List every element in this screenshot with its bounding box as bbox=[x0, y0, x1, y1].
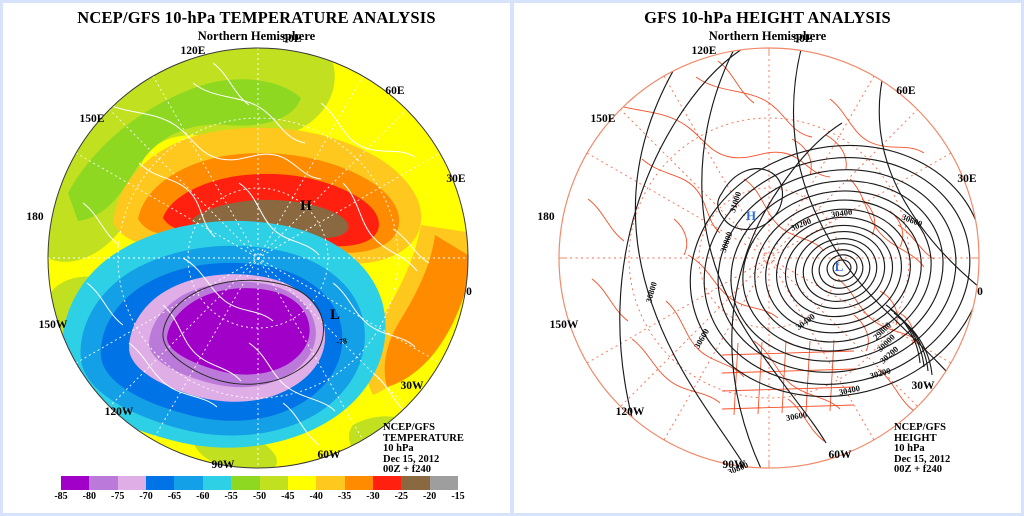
colorbar-swatch-5 bbox=[203, 476, 231, 490]
colorbar-tick--50: -50 bbox=[253, 491, 266, 502]
lon-label-60W: 60W bbox=[829, 449, 852, 461]
colorbar-swatch-2 bbox=[118, 476, 146, 490]
colorbar-swatch-13 bbox=[430, 476, 458, 490]
lon-label-0: 0 bbox=[466, 286, 472, 298]
colorbar-swatch-12 bbox=[401, 476, 429, 490]
lon-label-120W: 120W bbox=[105, 406, 134, 418]
colorbar-swatch-7 bbox=[260, 476, 288, 490]
lon-label-150E: 150E bbox=[591, 113, 616, 125]
lon-label-180: 180 bbox=[537, 211, 554, 223]
svg-text:30600: 30600 bbox=[900, 212, 923, 229]
temperature-colorbar-ticks: -85-80-75-70-65-60-55-50-45-40-35-30-25-… bbox=[3, 491, 515, 505]
svg-text:30800: 30800 bbox=[718, 230, 735, 253]
colorbar-tick--75: -75 bbox=[111, 491, 124, 502]
colorbar-tick--60: -60 bbox=[196, 491, 209, 502]
temperature-contour-label: -78 bbox=[336, 336, 348, 346]
colorbar-tick--35: -35 bbox=[338, 491, 351, 502]
lon-label-0: 0 bbox=[977, 286, 983, 298]
svg-text:30200: 30200 bbox=[869, 365, 892, 380]
height-low-marker: L bbox=[835, 259, 844, 274]
lon-label-90E: 90E bbox=[282, 33, 301, 45]
lon-label-60E: 60E bbox=[385, 85, 404, 97]
lon-label-90E: 90E bbox=[793, 33, 812, 45]
height-panel-subtitle: Northern Hemisphere bbox=[514, 29, 1021, 44]
colorbar-tick--55: -55 bbox=[224, 491, 237, 502]
lon-label-120W: 120W bbox=[616, 406, 645, 418]
svg-text:30400: 30400 bbox=[838, 383, 861, 397]
colorbar-swatch-8 bbox=[288, 476, 316, 490]
colorbar-swatch-10 bbox=[345, 476, 373, 490]
lon-label-90W: 90W bbox=[212, 459, 235, 471]
colorbar-tick--40: -40 bbox=[310, 491, 323, 502]
lon-label-90W: 90W bbox=[723, 459, 746, 471]
svg-text:30600: 30600 bbox=[785, 409, 808, 423]
lon-label-120E: 120E bbox=[181, 45, 206, 57]
colorbar-tick--20: -20 bbox=[423, 491, 436, 502]
colorbar-swatch-4 bbox=[174, 476, 202, 490]
lon-label-30W: 30W bbox=[401, 380, 424, 392]
lon-label-150E: 150E bbox=[80, 113, 105, 125]
colorbar-swatch-11 bbox=[373, 476, 401, 490]
colorbar-tick--25: -25 bbox=[395, 491, 408, 502]
lon-label-30E: 30E bbox=[446, 173, 465, 185]
temperature-panel-title: NCEP/GFS 10-hPa TEMPERATURE ANALYSIS bbox=[3, 8, 510, 28]
colorbar-tick--45: -45 bbox=[281, 491, 294, 502]
lon-label-30W: 30W bbox=[912, 380, 935, 392]
screenshot-root: NCEP/GFS 10-hPa TEMPERATURE ANALYSIS Nor… bbox=[0, 0, 1024, 516]
colorbar-swatch-3 bbox=[146, 476, 174, 490]
height-contour-labels: 31000 30800 30200 30400 30600 30800 3060… bbox=[643, 190, 923, 473]
colorbar-swatch-1 bbox=[89, 476, 117, 490]
colorbar-tick--80: -80 bbox=[83, 491, 96, 502]
lon-label-60W: 60W bbox=[318, 449, 341, 461]
temperature-panel: NCEP/GFS 10-hPa TEMPERATURE ANALYSIS Nor… bbox=[0, 0, 512, 516]
lon-label-180: 180 bbox=[26, 211, 43, 223]
temperature-annotation: NCEP/GFS TEMPERATURE 10 hPa Dec 15, 2012… bbox=[383, 423, 464, 476]
colorbar-tick--15: -15 bbox=[451, 491, 464, 502]
lon-label-150W: 150W bbox=[39, 319, 68, 331]
colorbar-tick--65: -65 bbox=[168, 491, 181, 502]
colorbar-tick--70: -70 bbox=[139, 491, 152, 502]
colorbar-swatch-0 bbox=[61, 476, 89, 490]
colorbar-swatch-6 bbox=[231, 476, 259, 490]
lon-label-150W: 150W bbox=[550, 319, 579, 331]
lon-label-30E: 30E bbox=[957, 173, 976, 185]
height-annotation: NCEP/GFS HEIGHT 10 hPa Dec 15, 2012 00Z … bbox=[894, 423, 950, 476]
temperature-low-marker: L bbox=[330, 307, 340, 323]
colorbar-tick--30: -30 bbox=[366, 491, 379, 502]
height-panel: GFS 10-hPa HEIGHT ANALYSIS Northern Hemi… bbox=[512, 0, 1024, 516]
svg-text:30200: 30200 bbox=[789, 216, 812, 233]
temperature-panel-subtitle: Northern Hemisphere bbox=[3, 29, 510, 44]
height-high-marker: H bbox=[746, 208, 756, 223]
colorbar-swatch-9 bbox=[316, 476, 344, 490]
temperature-colorbar bbox=[61, 476, 458, 490]
svg-text:30600: 30600 bbox=[692, 327, 711, 350]
lon-label-120E: 120E bbox=[692, 45, 717, 57]
colorbar-tick--85: -85 bbox=[54, 491, 67, 502]
temperature-high-marker: H bbox=[300, 198, 312, 214]
height-panel-title: GFS 10-hPa HEIGHT ANALYSIS bbox=[514, 8, 1021, 28]
lon-label-60E: 60E bbox=[896, 85, 915, 97]
